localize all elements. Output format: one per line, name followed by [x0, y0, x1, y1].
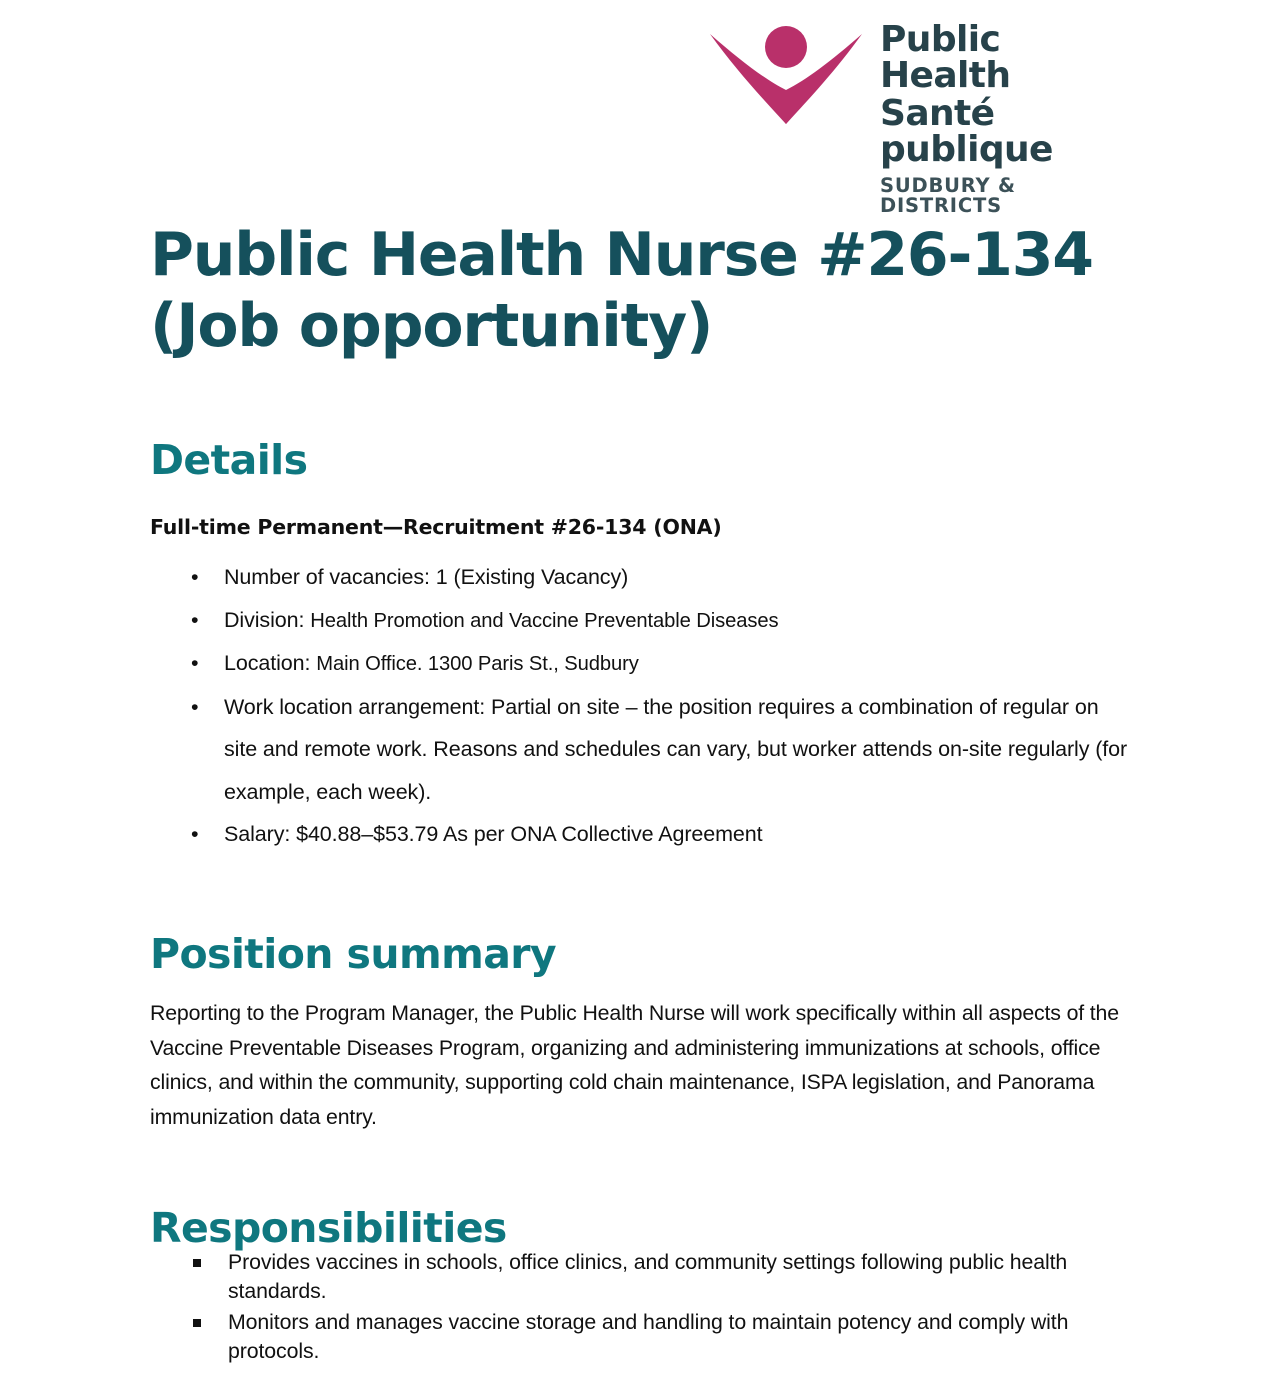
- logo-text-french: Santé publique: [880, 96, 1126, 168]
- list-item-value: Main Office. 1300 Paris St., Sudbury: [316, 653, 639, 675]
- bullet-dot-icon: •: [191, 642, 198, 685]
- details-lead-line: Full-time Permanent—Recruitment #26-134 …: [150, 515, 722, 539]
- section-heading-details: Details: [150, 438, 307, 483]
- bullet-dot-icon: •: [191, 813, 198, 856]
- list-item: Monitors and manages vaccine storage and…: [150, 1308, 1110, 1366]
- organization-logo: Public Health Santé publique SUDBURY & D…: [706, 18, 1126, 136]
- logo-text-region: SUDBURY & DISTRICTS: [880, 176, 1126, 215]
- list-item-label: Location:: [224, 651, 316, 675]
- position-summary-paragraph: Reporting to the Program Manager, the Pu…: [150, 996, 1125, 1134]
- list-item-label: Salary: $40.88–$53.79 As per ONA Collect…: [224, 822, 763, 846]
- list-item-label: Monitors and manages vaccine storage and…: [228, 1310, 1068, 1363]
- list-item: • Division: Health Promotion and Vaccine…: [150, 599, 1130, 643]
- logo-text-english: Public Health: [880, 22, 1126, 94]
- logo-wordmark: Public Health Santé publique SUDBURY & D…: [880, 18, 1126, 215]
- responsibilities-bullet-list: Provides vaccines in schools, office cli…: [150, 1248, 1110, 1368]
- list-item-label: Division:: [224, 608, 310, 632]
- section-heading-responsibilities: Responsibilities: [150, 1206, 507, 1251]
- list-item: • Salary: $40.88–$53.79 As per ONA Colle…: [150, 813, 1130, 856]
- page-title: Public Health Nurse #26-134 (Job opportu…: [150, 220, 1110, 362]
- list-item-label: Work location arrangement: Partial on si…: [224, 695, 1127, 804]
- list-item: • Work location arrangement: Partial on …: [150, 686, 1130, 814]
- bullet-dot-icon: •: [191, 686, 198, 729]
- list-item: Provides vaccines in schools, office cli…: [150, 1248, 1110, 1306]
- bullet-square-icon: [193, 1259, 201, 1267]
- list-item: • Location: Main Office. 1300 Paris St.,…: [150, 642, 1130, 686]
- bullet-square-icon: [193, 1319, 201, 1327]
- list-item-label: Provides vaccines in schools, office cli…: [228, 1250, 1067, 1303]
- section-heading-position-summary: Position summary: [150, 932, 556, 977]
- list-item-value: Health Promotion and Vaccine Preventable…: [310, 610, 778, 632]
- document-page: Public Health Santé publique SUDBURY & D…: [0, 0, 1275, 1380]
- bullet-dot-icon: •: [191, 599, 198, 642]
- bullet-dot-icon: •: [191, 556, 198, 599]
- public-health-logo-icon: [706, 18, 866, 128]
- list-item: • Number of vacancies: 1 (Existing Vacan…: [150, 556, 1130, 599]
- list-item-label: Number of vacancies: 1 (Existing Vacancy…: [224, 565, 628, 589]
- details-bullet-list: • Number of vacancies: 1 (Existing Vacan…: [150, 556, 1130, 856]
